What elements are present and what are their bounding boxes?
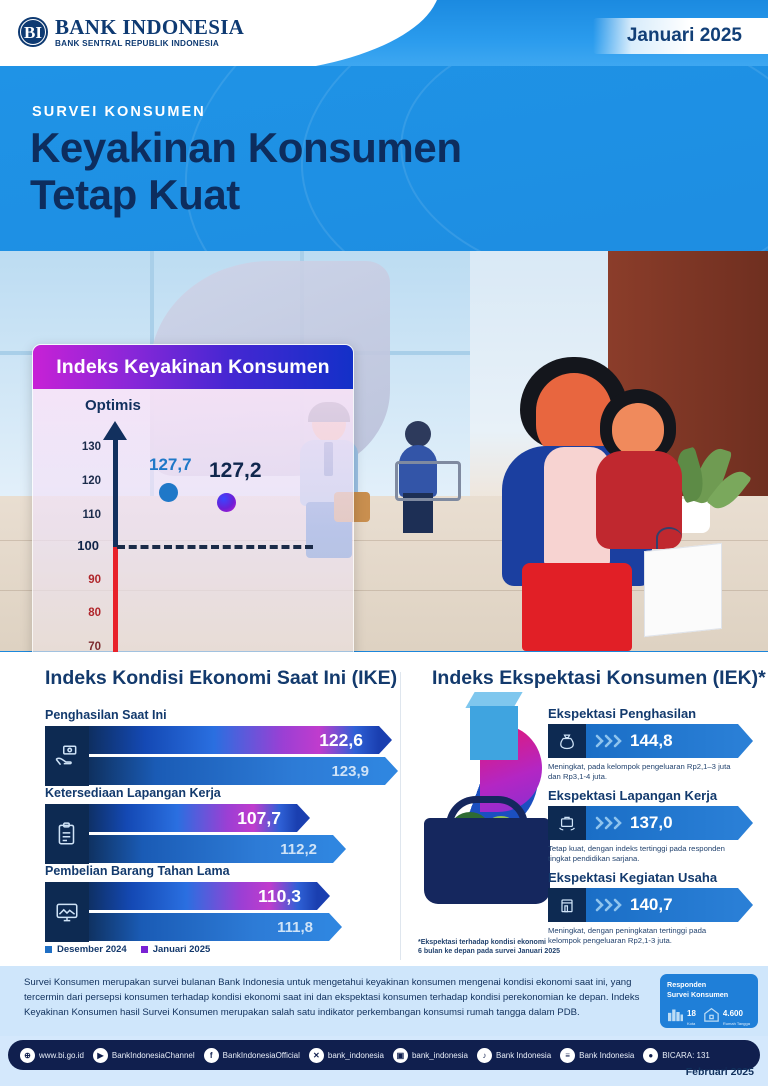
axis-label-optimis: Optimis [85,397,141,414]
x-twitter-icon: ✕ [309,1048,324,1063]
store-icon [548,888,586,922]
iek-value: 140,7 [630,895,673,915]
child-face [612,403,664,457]
stat-cities-text: 18 Kota [687,1003,696,1026]
iek-item-note: Tetap kuat, dengan indeks tertinggi pada… [548,844,738,865]
social-item-website[interactable]: ⊕ www.bi.go.id [20,1048,84,1063]
city-icon [667,1007,684,1022]
iek-item-note: Meningkat, dengan peningkatan tertinggi … [548,926,738,947]
cube-front-face [470,706,518,760]
iek-bar: 140,7 [548,888,738,922]
social-item-instagram[interactable]: ▣ bank_indonesia [393,1048,468,1063]
social-item-tiktok[interactable]: ♪ Bank Indonesia [477,1048,551,1063]
infographic-page: BI BANK INDONESIA BANK SENTRAL REPUBLIK … [0,0,768,1086]
iek-value: 144,8 [630,731,673,751]
respondent-stats: 18 Kota 4.600 Rumah Tangga [667,1003,751,1026]
ike-item-penghasilan: Penghasilan Saat Ini 122,6 123,9 [45,708,375,786]
ike-bar-group: 110,3 111,8 [45,882,375,942]
iek-item-note: Meningkat, pada kelompok pengeluaran Rp2… [548,762,738,783]
iek-value-wrap: 137,0 [586,806,738,840]
iek-item-kegiatan-usaha: Ekspektasi Kegiatan Usaha 140,7 Meningka… [548,870,738,947]
ike-item-label: Ketersediaan Lapangan Kerja [45,786,375,800]
datapoint-label-jan: 127,2 [209,459,262,483]
ike-item-label: Penghasilan Saat Ini [45,708,375,722]
iek-value-wrap: 140,7 [586,888,738,922]
social-label-x: bank_indonesia [328,1051,384,1060]
ikk-chart-title-bar: Indeks Keyakinan Konsumen [33,345,353,389]
chevrons-icon [594,732,624,750]
page-title-line1: Keyakinan Konsumen [30,124,462,171]
section-divider [400,672,401,960]
stat-households-text: 4.600 Rumah Tangga [723,1003,750,1026]
monitor-icon [45,882,89,942]
social-label-youtube: BankIndonesiaChannel [112,1051,195,1060]
social-label-website: www.bi.go.id [39,1051,84,1060]
iek-item-penghasilan: Ekspektasi Penghasilan 144,8 Meningkat, … [548,706,738,783]
legend-label-desember: Desember 2024 [57,944,127,955]
shopping-cart-icon [395,461,461,501]
ike-legend: Desember 2024 Januari 2025 [45,944,210,955]
legend-label-januari: Januari 2025 [153,944,211,955]
ytick-90: 90 [65,574,101,586]
stat-households: 4.600 Rumah Tangga [703,1003,750,1026]
mother-skirt [522,563,632,651]
ikk-chart-card: Indeks Keyakinan Konsumen Optimis Pesimi… [32,344,354,652]
ike-bar-jan: 122,6 [79,726,379,754]
ytick-120: 120 [65,475,101,487]
axis-positive [113,437,118,547]
stat-cities: 18 Kota [667,1003,696,1026]
money-bag-icon [548,724,586,758]
legend-swatch-januari [141,946,148,953]
social-label-bicara: BICARA: 131 [662,1051,710,1060]
iek-value-wrap: 144,8 [586,724,738,758]
threshold-line-100 [117,545,313,549]
iek-item-lapangan-kerja: Ekspektasi Lapangan Kerja 137,0 Tetap ku… [548,788,738,865]
bi-logo-icon: BI [18,17,48,47]
iek-bar: 137,0 [548,806,738,840]
social-bar: ⊕ www.bi.go.id ▶ BankIndonesiaChannel f … [8,1040,760,1070]
ikk-chart-title: Indeks Keyakinan Konsumen [56,356,329,379]
bank-indonesia-logo: BI BANK INDONESIA BANK SENTRAL REPUBLIK … [18,16,244,49]
tiktok-icon: ♪ [477,1048,492,1063]
social-item-bicara[interactable]: ● BICARA: 131 [643,1048,710,1063]
ytick-70: 70 [65,641,101,652]
mother-and-child-illustration [492,351,712,651]
ike-bar-des: 111,8 [79,913,329,941]
households-count: 4.600 [723,1009,743,1018]
ike-item-barang-tahan-lama: Pembelian Barang Tahan Lama 110,3 111,8 [45,864,375,942]
hero-kicker: SURVEI KONSUMEN [32,104,206,120]
legend-item-januari: Januari 2025 [141,944,211,955]
datapoint-label-des: 127,7 [149,455,192,475]
facebook-icon: f [204,1048,219,1063]
bicara-icon: ● [643,1048,658,1063]
axis-negative [113,547,118,652]
ike-item-label: Pembelian Barang Tahan Lama [45,864,375,878]
iek-bar: 144,8 [548,724,738,758]
datapoint-jan [217,493,236,512]
ytick-100: 100 [63,538,99,553]
iek-item-label: Ekspektasi Penghasilan [548,706,738,721]
social-item-spotify[interactable]: ≡ Bank Indonesia [560,1048,634,1063]
iek-basket-illustration [424,700,552,930]
ytick-80: 80 [65,607,101,619]
ike-item-lapangan-kerja: Ketersediaan Lapangan Kerja 107,7 112,2 [45,786,375,864]
social-label-facebook: BankIndonesiaOfficial [223,1051,300,1060]
social-item-x[interactable]: ✕ bank_indonesia [309,1048,384,1063]
ikk-chart-body: Optimis Pesimis 130 120 110 100 90 80 70 [33,389,353,652]
logo-title: BANK INDONESIA [55,16,244,38]
ike-section-title: Indeks Kondisi Ekonomi Saat Ini (IKE) [45,667,397,690]
iek-section-title: Indeks Ekspektasi Konsumen (IEK)* [432,667,766,690]
legend-swatch-desember [45,946,52,953]
iek-item-label: Ekspektasi Kegiatan Usaha [548,870,738,885]
shopping-bag [644,543,722,637]
youtube-icon: ▶ [93,1048,108,1063]
page-title: Keyakinan Konsumen Tetap Kuat [30,124,462,219]
respondent-badge-title: Responden Survei Konsumen [667,980,751,999]
respondent-badge: Responden Survei Konsumen 18 Kota 4.600 … [660,974,758,1028]
footer-description: Survei Konsumen merupakan survei bulanan… [24,976,644,1021]
clipboard-job-icon [45,804,89,864]
chevrons-icon [594,814,624,832]
shopping-basket [424,818,550,904]
ike-bar-jan: 110,3 [79,882,317,910]
iek-item-label: Ekspektasi Lapangan Kerja [548,788,738,803]
shopper-head [405,421,431,447]
ike-bar-des: 112,2 [79,835,333,863]
iek-value: 137,0 [630,813,673,833]
spotify-icon: ≡ [560,1048,575,1063]
chevrons-icon [594,896,624,914]
ike-bar-group: 107,7 112,2 [45,804,375,864]
social-label-spotify: Bank Indonesia [579,1051,634,1060]
ytick-130: 130 [65,441,101,453]
page-header: BI BANK INDONESIA BANK SENTRAL REPUBLIK … [0,0,768,72]
money-hand-icon [45,726,89,786]
cities-label: Kota [687,1021,696,1026]
legend-item-desember: Desember 2024 [45,944,127,955]
logo-subtitle: BANK SENTRAL REPUBLIK INDONESIA [55,39,244,49]
house-icon [703,1007,720,1022]
ike-bar-des: 123,9 [79,757,385,785]
page-title-line2: Tetap Kuat [30,171,462,218]
cities-count: 18 [687,1009,696,1018]
social-label-tiktok: Bank Indonesia [496,1051,551,1060]
publish-month: Februari 2025 [686,1066,754,1078]
ikk-plot-area: Optimis Pesimis 130 120 110 100 90 80 70 [33,389,353,652]
iek-footnote: *Ekspektasi terhadap kondisi ekonomi 6 b… [418,938,560,957]
globe-icon: ⊕ [20,1048,35,1063]
shopping-bag-handle [656,527,682,549]
bi-logo-letters: BI [24,24,42,41]
period-label: Januari 2025 [627,25,742,47]
social-item-youtube[interactable]: ▶ BankIndonesiaChannel [93,1048,195,1063]
ike-bar-group: 122,6 123,9 [45,726,375,786]
ike-bar-jan: 107,7 [79,804,297,832]
instagram-icon: ▣ [393,1048,408,1063]
period-badge: Januari 2025 [593,18,768,54]
briefcase-hands-icon [548,806,586,840]
social-label-instagram: bank_indonesia [412,1051,468,1060]
social-item-facebook[interactable]: f BankIndonesiaOfficial [204,1048,300,1063]
ytick-110: 110 [65,509,101,521]
households-label: Rumah Tangga [723,1021,750,1026]
datapoint-des [159,483,178,502]
hero-section: SURVEI KONSUMEN Keyakinan Konsumen Tetap… [0,66,768,652]
